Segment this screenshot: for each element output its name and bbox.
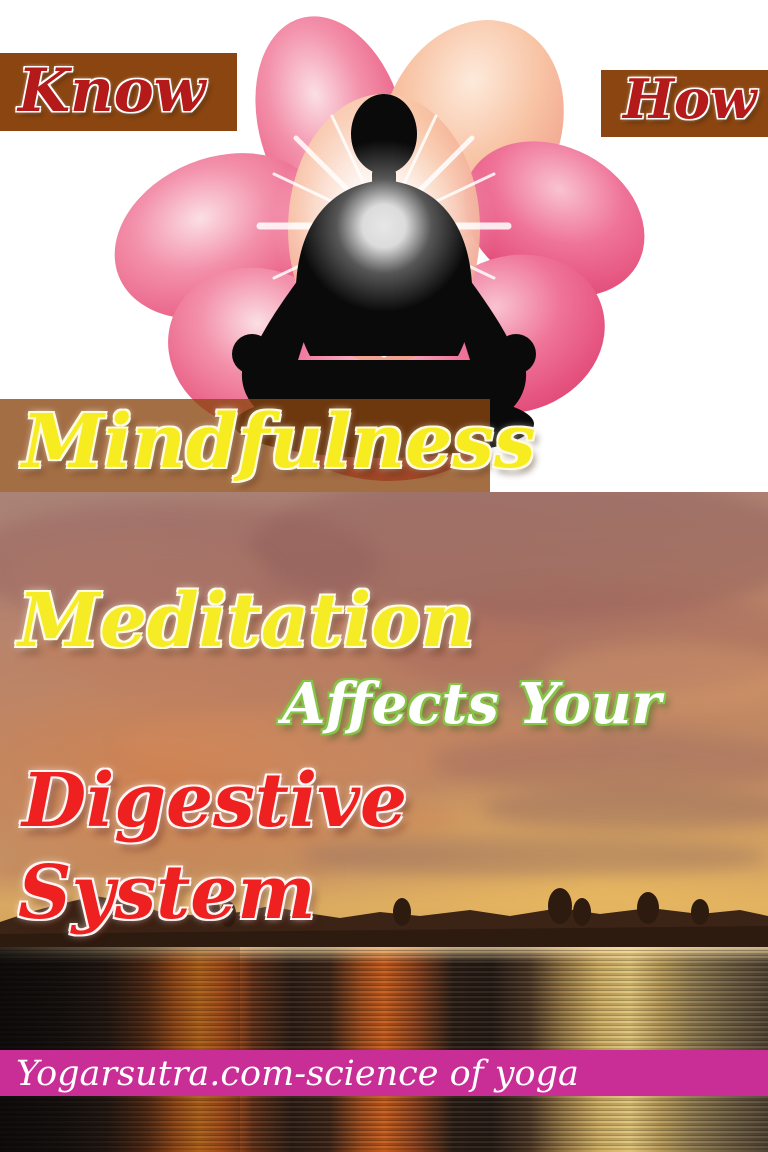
kicker-banner-right: How <box>601 70 768 137</box>
kicker-left-text: Know <box>18 61 205 121</box>
cloud-streak <box>480 787 768 831</box>
headline-line-1: Meditation <box>18 584 474 658</box>
hero-section: Know How Mindfulness <box>0 0 768 492</box>
mindfulness-banner: Mindfulness <box>0 399 490 492</box>
cloud-streak <box>430 732 768 792</box>
footer-url-bar: Yogarsutra.com-science of yoga <box>0 1050 768 1096</box>
mindfulness-text: Mindfulness <box>22 405 536 479</box>
kicker-right-text: How <box>623 72 757 126</box>
footer-url-text: Yogarsutra.com-science of yoga <box>16 1054 579 1094</box>
pinterest-pin-graphic: Know How Mindfulness <box>0 0 768 1152</box>
inner-glow-icon <box>298 140 470 312</box>
headline-line-2: Affects Your <box>282 676 661 732</box>
kicker-banner-left: Know <box>0 53 237 131</box>
headline-line-3: Digestive <box>22 764 407 838</box>
headline-line-4: System <box>18 856 316 930</box>
